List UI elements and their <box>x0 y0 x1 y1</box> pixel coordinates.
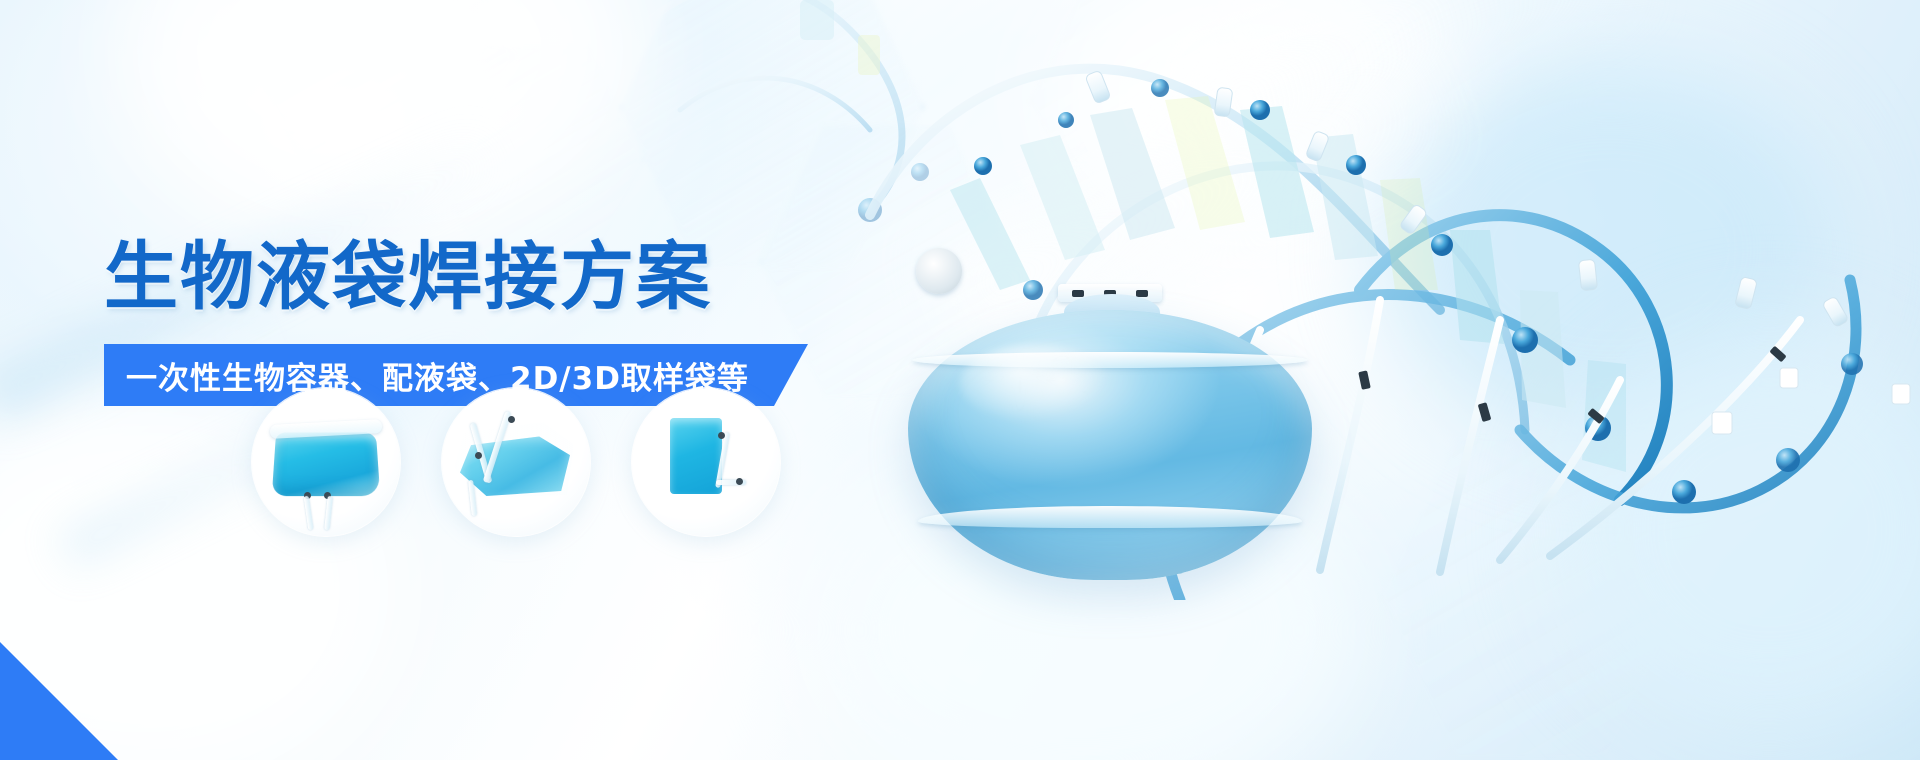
bag-port-icon <box>736 478 743 485</box>
bag-highlight <box>960 344 1110 422</box>
product-thumbnail-3[interactable] <box>632 388 780 536</box>
sampling-bag-icon <box>670 418 722 494</box>
product-thumbnail-1[interactable] <box>252 388 400 536</box>
bag-port-icon <box>508 416 515 423</box>
bag-body <box>908 310 1312 580</box>
main-bioprocess-bag <box>908 300 1312 600</box>
bag-port-icon <box>475 452 482 459</box>
hero-banner: 生物液袋焊接方案 一次性生物容器、配液袋、2D/3D取样袋等 <box>0 0 1920 760</box>
bag-tube-icon <box>304 496 314 530</box>
bag-port-icon <box>718 432 725 439</box>
filter-disc-icon <box>916 248 962 294</box>
page-title: 生物液袋焊接方案 <box>104 236 712 318</box>
bag-tube-icon <box>324 496 333 530</box>
pillow-bag-icon <box>272 433 380 497</box>
product-thumbnail-group <box>252 388 852 618</box>
product-thumbnail-2[interactable] <box>442 388 590 536</box>
corner-wedge <box>0 642 118 760</box>
